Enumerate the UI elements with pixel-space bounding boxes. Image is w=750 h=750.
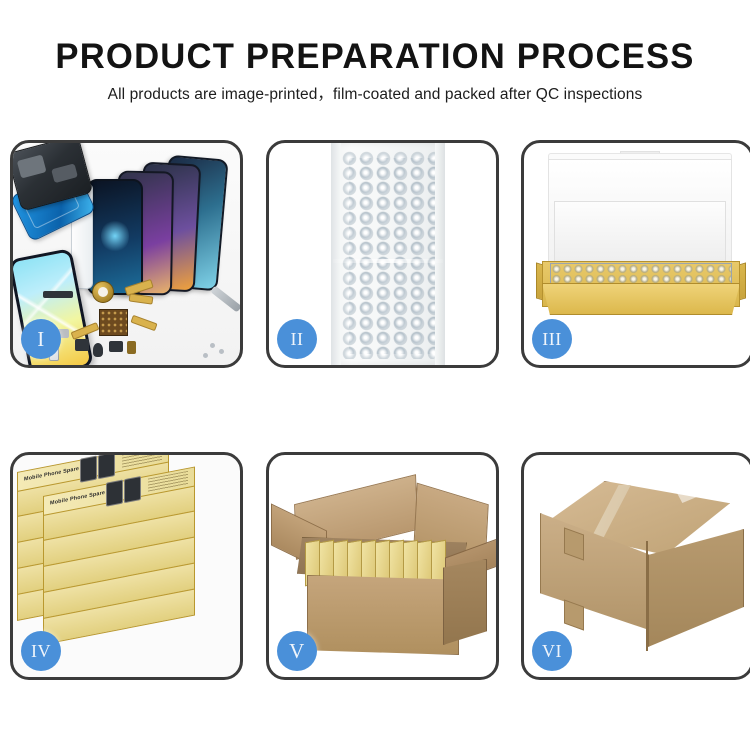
tweezers-icon — [210, 285, 242, 312]
foam-pad-icon — [554, 201, 726, 267]
page-subtitle: All products are image-printed，film-coat… — [0, 85, 750, 105]
bubble-wrap-edge-left — [331, 143, 341, 365]
spare-part-icon — [93, 343, 103, 357]
phone-mockup-icon — [87, 179, 143, 295]
step-badge-2: II — [277, 319, 317, 359]
screw-icon — [210, 343, 215, 348]
step-panel-5[interactable]: V — [266, 452, 499, 680]
step-panel-1[interactable]: I — [10, 140, 243, 368]
screen-photo-icon — [124, 476, 141, 503]
page-title: PRODUCT PREPARATION PROCESS — [4, 36, 747, 78]
step-panel-3[interactable]: III — [521, 140, 750, 368]
step-badge-3: III — [532, 319, 572, 359]
product-preparation-infographic: PRODUCT PREPARATION PROCESS All products… — [0, 0, 750, 750]
step-panel-6[interactable]: VI — [521, 452, 750, 680]
speaker-module-icon — [92, 281, 114, 303]
flex-cable-icon — [130, 315, 157, 331]
screen-photo-icon — [106, 479, 123, 506]
screw-icon — [203, 353, 208, 358]
step-badge-1: I — [21, 319, 61, 359]
step-badge-4: IV — [21, 631, 61, 671]
step-badge-5: V — [277, 631, 317, 671]
chip-grid-icon — [99, 309, 128, 336]
carton-front-face — [307, 575, 459, 655]
screen-photo-icon — [98, 452, 115, 479]
inner-box-front — [542, 283, 740, 315]
screw-icon — [219, 349, 224, 354]
bubble-wrap-edge-right — [435, 143, 445, 365]
step-panel-4[interactable]: Mobile Phone Spare Parts Mobile Phone Sp… — [10, 452, 243, 680]
step-panel-2[interactable]: II — [266, 140, 499, 368]
screen-photo-icon — [80, 455, 97, 482]
bubble-wrap-bubbles-overlay-icon — [349, 158, 435, 354]
spare-part-icon — [75, 339, 89, 351]
spare-part-icon — [43, 291, 73, 298]
carton-vertical-edge — [646, 541, 648, 651]
spare-part-icon — [109, 341, 123, 352]
spare-part-icon — [127, 341, 136, 354]
step-badge-6: VI — [532, 631, 572, 671]
bubble-wrap-seam — [333, 259, 443, 263]
carton-side-face — [443, 559, 487, 645]
